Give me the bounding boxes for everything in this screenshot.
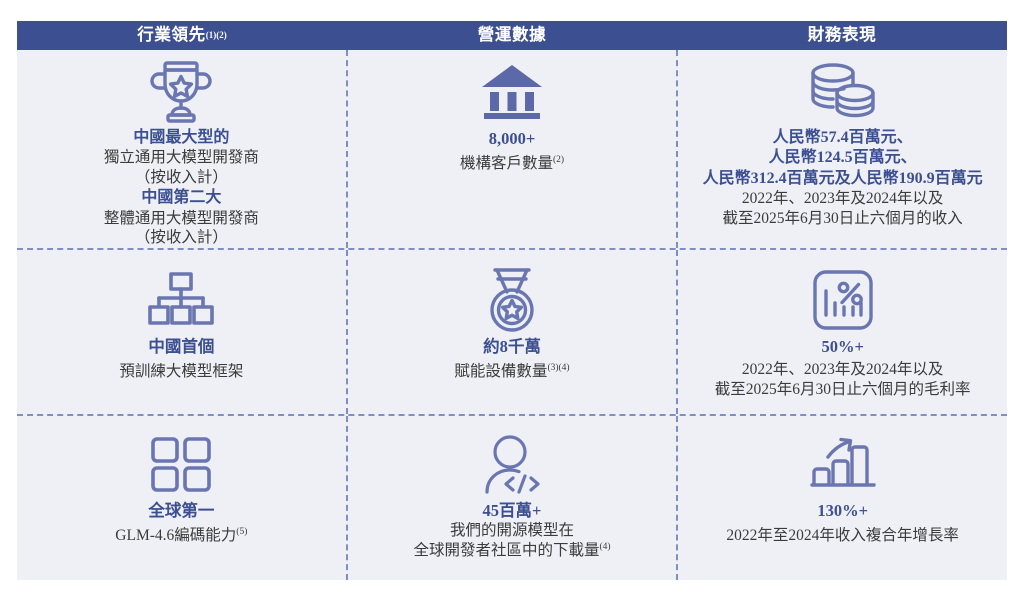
header-label-industry: 行業領先 bbox=[137, 27, 205, 44]
metrics-row-2: 中國首個 預訓練大模型框架 bbox=[17, 248, 1007, 414]
metric-label: 預訓練大模型框架 bbox=[119, 362, 243, 382]
metric-line: 截至2025年6月30日止六個月的毛利率 bbox=[715, 380, 971, 400]
metric-value: 8,000+ bbox=[460, 128, 564, 149]
text-block-revenue-cagr: 130%+ 2022年至2024年收入複合年增長率 bbox=[720, 500, 965, 546]
metric-label-text: GLM-4.6編碼能力 bbox=[115, 527, 236, 544]
text-block-first-pretraining-framework: 中國首個 預訓練大模型框架 bbox=[113, 336, 249, 382]
cell-revenue-figures: 人民幣57.4百萬元、 人民幣124.5百萬元、 人民幣312.4百萬元及人民幣… bbox=[676, 50, 1007, 248]
org-chart-icon bbox=[147, 264, 215, 336]
metric-line: 截至2025年6月30日止六個月的收入 bbox=[703, 209, 983, 229]
metric-line: 我們的開源模型在 bbox=[413, 521, 610, 541]
metric-line: 全球開發者社區中的下載量(4) bbox=[413, 541, 610, 561]
header-financial-performance: 財務表現 bbox=[677, 21, 1007, 50]
metric-value: 全球第一 bbox=[115, 500, 247, 521]
medal-star-icon bbox=[481, 264, 543, 336]
metric-line: （按收入計） bbox=[104, 168, 259, 188]
metric-line: 人民幣124.5百萬元、 bbox=[703, 148, 983, 168]
text-block-coding-capability: 全球第一 GLM-4.6編碼能力(5) bbox=[109, 500, 253, 546]
metric-footnote: (5) bbox=[236, 527, 247, 537]
header-operating-data: 營運數據 bbox=[347, 21, 677, 50]
metrics-row-1: 中國最大型的 獨立通用大模型開發商 （按收入計） 中國第二大 整體通用大模型開發… bbox=[17, 50, 1007, 248]
metric-footnote: (4) bbox=[599, 542, 610, 552]
text-block-open-source-downloads: 45百萬+ 我們的開源模型在 全球開發者社區中的下載量(4) bbox=[407, 500, 616, 561]
cell-institutional-customers: 8,000+ 機構客戶數量(2) bbox=[346, 50, 677, 248]
header-label-operating: 營運數據 bbox=[478, 27, 546, 44]
header-row: 行業領先(1)(2) 營運數據 財務表現 bbox=[17, 21, 1007, 50]
metrics-board: 行業領先(1)(2) 營運數據 財務表現 bbox=[17, 21, 1007, 580]
trophy-star-icon bbox=[144, 56, 218, 128]
header-label-financial: 財務表現 bbox=[808, 27, 876, 44]
metric-line: 人民幣57.4百萬元、 bbox=[703, 128, 983, 148]
metric-label-text: 全球開發者社區中的下載量 bbox=[413, 542, 599, 559]
metrics-row-3: 全球第一 GLM-4.6編碼能力(5) bbox=[17, 414, 1007, 580]
cell-first-pretraining-framework: 中國首個 預訓練大模型框架 bbox=[17, 250, 346, 414]
metric-value: 130%+ bbox=[726, 500, 959, 521]
metrics-body: 中國最大型的 獨立通用大模型開發商 （按收入計） 中國第二大 整體通用大模型開發… bbox=[17, 50, 1007, 580]
metric-label-text: 賦能設備數量 bbox=[454, 364, 547, 381]
metric-label-text: 機構客戶數量 bbox=[460, 155, 553, 172]
metric-label: 2022年至2024年收入複合年增長率 bbox=[726, 526, 959, 546]
cell-open-source-downloads: 45百萬+ 我們的開源模型在 全球開發者社區中的下載量(4) bbox=[346, 416, 677, 580]
developer-code-icon bbox=[479, 430, 545, 500]
cell-revenue-cagr: 130%+ 2022年至2024年收入複合年增長率 bbox=[676, 416, 1007, 580]
text-block-gross-margin: 50%+ 2022年、2023年及2024年以及 截至2025年6月30日止六個… bbox=[709, 336, 977, 400]
metric-value: 中國首個 bbox=[119, 336, 243, 357]
text-block-institutional-customers: 8,000+ 機構客戶數量(2) bbox=[454, 128, 570, 174]
metric-label: 機構客戶數量(2) bbox=[460, 154, 564, 174]
metric-label: 賦能設備數量(3)(4) bbox=[454, 362, 569, 382]
metric-line: 2022年、2023年及2024年以及 bbox=[715, 360, 971, 380]
text-block-leadership-largest: 中國最大型的 獨立通用大模型開發商 （按收入計） 中國第二大 整體通用大模型開發… bbox=[98, 128, 265, 248]
metric-value: 45百萬+ bbox=[413, 500, 610, 521]
metric-footnote: (3)(4) bbox=[547, 363, 569, 373]
coins-stack-icon bbox=[807, 56, 879, 128]
bank-icon bbox=[480, 56, 544, 128]
cell-enabled-devices: 約8千萬 賦能設備數量(3)(4) bbox=[346, 250, 677, 414]
cell-gross-margin: 50%+ 2022年、2023年及2024年以及 截至2025年6月30日止六個… bbox=[676, 250, 1007, 414]
metric-line: （按收入計） bbox=[104, 228, 259, 248]
text-block-enabled-devices: 約8千萬 賦能設備數量(3)(4) bbox=[448, 336, 575, 382]
metric-label: GLM-4.6編碼能力(5) bbox=[115, 526, 247, 546]
header-industry-leadership: 行業領先(1)(2) bbox=[17, 21, 347, 50]
metric-line: 2022年、2023年及2024年以及 bbox=[703, 189, 983, 209]
grid-squares-icon bbox=[150, 430, 212, 500]
growth-bars-icon bbox=[810, 430, 876, 500]
metric-value: 約8千萬 bbox=[454, 336, 569, 357]
metric-line: 中國第二大 bbox=[104, 188, 259, 208]
percent-bars-icon bbox=[812, 264, 874, 336]
metric-line: 獨立通用大模型開發商 bbox=[104, 148, 259, 168]
metric-footnote: (2) bbox=[553, 155, 564, 165]
text-block-revenue-figures: 人民幣57.4百萬元、 人民幣124.5百萬元、 人民幣312.4百萬元及人民幣… bbox=[697, 128, 989, 229]
metric-line: 中國最大型的 bbox=[104, 128, 259, 148]
cell-leadership-largest: 中國最大型的 獨立通用大模型開發商 （按收入計） 中國第二大 整體通用大模型開發… bbox=[17, 50, 346, 248]
infographic-page: 行業領先(1)(2) 營運數據 財務表現 bbox=[0, 0, 1024, 595]
header-footnote-industry: (1)(2) bbox=[206, 31, 227, 40]
cell-coding-capability: 全球第一 GLM-4.6編碼能力(5) bbox=[17, 416, 346, 580]
metric-line: 整體通用大模型開發商 bbox=[104, 209, 259, 229]
metric-value: 50%+ bbox=[715, 336, 971, 357]
metric-line: 人民幣312.4百萬元及人民幣190.9百萬元 bbox=[703, 169, 983, 189]
